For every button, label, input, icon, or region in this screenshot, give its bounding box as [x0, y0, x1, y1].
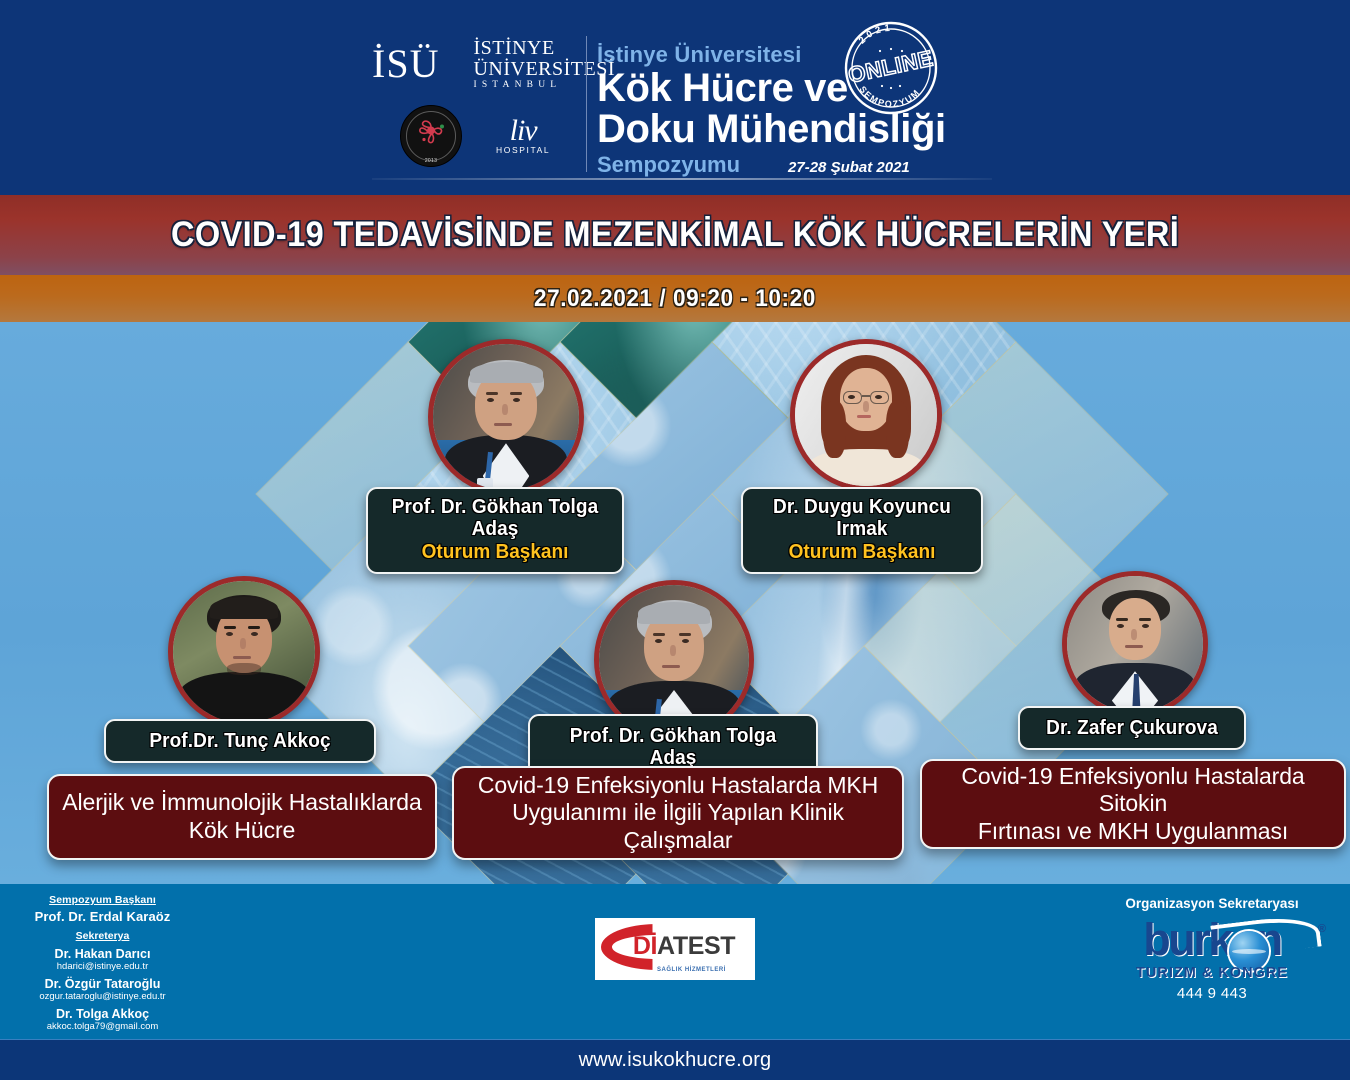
portrait-tunc-akkoc: [173, 581, 315, 723]
liv-hospital-logo: liv HOSPITAL: [496, 117, 550, 155]
speaker-topic-2-line1: Covid-19 Enfeksiyonlu Hastalarda MKH: [467, 772, 889, 800]
secretariat-name-3: Dr. Tolga Akkoç: [0, 1007, 205, 1021]
website-bar: www.isukokhucre.org: [0, 1039, 1350, 1080]
speaker-topic-3-line2: Fırtınası ve MKH Uygulanması: [935, 818, 1331, 846]
chair-name-plate-2: Dr. Duygu Koyuncu Irmak Oturum Başkanı: [741, 487, 983, 574]
svg-text:2021: 2021: [857, 23, 894, 47]
speaker-topic-2: Covid-19 Enfeksiyonlu Hastalarda MKH Uyg…: [467, 772, 889, 855]
event-line4: Sempozyumu: [597, 152, 740, 178]
isu-abbr-text: İSÜ: [372, 44, 448, 84]
symposium-chair-label: Sempozyum Başkanı: [0, 894, 205, 906]
footer: Sempozyum Başkanı Prof. Dr. Erdal Karaöz…: [0, 884, 1350, 1039]
session-title: COVID-19 TEDAVİSİNDE MEZENKİMAL KÖK HÜCR…: [171, 215, 1179, 255]
session-datetime: 27.02.2021 / 09:20 - 10:20: [534, 285, 816, 313]
chair-role-2: Oturum Başkanı: [764, 541, 960, 565]
diatest-tagline: SAĞLIK HİZMETLERİ: [657, 967, 726, 973]
website-url[interactable]: www.isukokhucre.org: [579, 1049, 772, 1072]
speaker-topic-plate-2: Covid-19 Enfeksiyonlu Hastalarda MKH Uyg…: [452, 766, 904, 860]
chair-photo-1: [428, 339, 584, 495]
event-date: 27-28 Şubat 2021: [788, 159, 910, 178]
speaker-name-plate-3: Dr. Zafer Çukurova: [1018, 706, 1246, 750]
event-line3: Doku Mühendisliği: [597, 109, 1017, 150]
header-bottom-rule: [372, 178, 992, 180]
liv-logo-sub: HOSPITAL: [496, 145, 550, 155]
event-line2: Kök Hücre ve: [597, 68, 1017, 109]
speaker-name-1: Prof.Dr. Tunç Akkoç: [128, 730, 352, 752]
session-title-banner: COVID-19 TEDAVİSİNDE MEZENKİMAL KÖK HÜCR…: [0, 195, 1350, 275]
speaker-topic-3-line1: Covid-19 Enfeksiyonlu Hastalarda Sitokin: [935, 763, 1331, 818]
speaker-name-plate-1: Prof.Dr. Tunç Akkoç: [104, 719, 376, 763]
chair-name-1: Prof. Dr. Gökhan Tolga Adaş: [390, 496, 601, 541]
header-vertical-divider: [586, 36, 587, 172]
diatest-wordmark: DİATEST: [633, 932, 735, 961]
speaker-photo-1: [168, 576, 320, 728]
liv-logo-word: liv: [496, 117, 550, 144]
isu-name-line2: ÜNİVERSİTESİ: [473, 59, 615, 80]
main-content: Prof. Dr. Gökhan Tolga Adaş Oturum Başka…: [0, 322, 1350, 884]
chair-photo-2: [790, 339, 942, 491]
header: İSÜ İSTİNYE ÜNİVERSİTESİ ISTANBUL: [0, 0, 1350, 195]
speaker-name-2: Prof. Dr. Gökhan Tolga Adaş: [552, 725, 793, 770]
institution-logos: İSÜ İSTİNYE ÜNİVERSİTESİ ISTANBUL: [372, 38, 577, 170]
speaker-topic-1-line2: Kök Hücre: [62, 817, 421, 845]
speaker-topic-2-line2: Uygulanımı ile İlgili Yapılan Klinik Çal…: [467, 799, 889, 854]
seal-year-text: 2013: [401, 158, 461, 164]
isu-city: ISTANBUL: [473, 81, 615, 91]
speaker-topic-plate-3: Covid-19 Enfeksiyonlu Hastalarda Sitokin…: [920, 759, 1346, 849]
secretariat-email-2[interactable]: ozgur.tataroglu@istinye.edu.tr: [0, 991, 205, 1002]
speaker-name-3: Dr. Zafer Çukurova: [1041, 717, 1223, 739]
chair-name-2: Dr. Duygu Koyuncu Irmak: [764, 496, 960, 541]
chair-role-1: Oturum Başkanı: [390, 541, 601, 565]
burkon-registered-mark: ®: [1318, 923, 1326, 935]
isu-logo: İSÜ İSTİNYE ÜNİVERSİTESİ ISTANBUL: [372, 38, 577, 91]
stem-cell-association-seal-icon: 2013: [400, 105, 462, 167]
chair-name-plate-1: Prof. Dr. Gökhan Tolga Adaş Oturum Başka…: [366, 487, 624, 574]
portrait-gokhan-tolga-adas: [433, 344, 579, 490]
org-phone[interactable]: 444 9 443: [1092, 985, 1332, 1002]
diatest-word-dark: ATEST: [657, 932, 735, 960]
burkon-logo: burkon ® TURIZM & KONGRE: [1092, 917, 1332, 979]
online-symposium-stamp-icon: 2021 SEMPOZYUM ONLINE: [840, 18, 942, 118]
speaker-topic-1-line1: Alerjik ve İmmunolojik Hastalıklarda: [62, 789, 421, 817]
seal-flower-icon: [412, 114, 450, 155]
isu-name-text: İSTİNYE ÜNİVERSİTESİ ISTANBUL: [466, 38, 615, 91]
event-line1: İstinye Üniversitesi: [597, 42, 1017, 68]
isu-name-line1: İSTİNYE: [473, 38, 615, 59]
organization-secretariat: Organizasyon Sekretaryası burkon ® TURIZ…: [1092, 896, 1332, 1002]
speaker-topic-1: Alerjik ve İmmunolojik Hastalıklarda Kök…: [62, 789, 421, 844]
partner-logos: 2013 liv HOSPITAL: [372, 105, 577, 167]
burkon-tagline: TURIZM & KONGRE: [1092, 965, 1332, 981]
session-datetime-banner: 27.02.2021 / 09:20 - 10:20: [0, 275, 1350, 322]
event-subtitle-row: Sempozyumu 27-28 Şubat 2021: [597, 152, 1017, 178]
speaker-topic-3: Covid-19 Enfeksiyonlu Hastalarda Sitokin…: [935, 763, 1331, 846]
org-secretariat-label: Organizasyon Sekretaryası: [1092, 896, 1332, 911]
poster-root: İSÜ İSTİNYE ÜNİVERSİTESİ ISTANBUL: [0, 0, 1350, 1080]
speaker-photo-3: [1062, 571, 1208, 717]
portrait-gokhan-tolga-adas-2: [599, 585, 749, 735]
speaker-topic-plate-1: Alerjik ve İmmunolojik Hastalıklarda Kök…: [47, 774, 437, 860]
portrait-duygu-koyuncu-irmak: [795, 344, 937, 486]
portrait-zafer-cukurova: [1067, 576, 1203, 712]
event-title-block: İstinye Üniversitesi Kök Hücre ve Doku M…: [597, 42, 1017, 178]
diatest-word-red: Dİ: [633, 932, 657, 960]
svg-text:ONLINE: ONLINE: [846, 45, 935, 87]
diatest-logo: DİATEST SAĞLIK HİZMETLERİ: [595, 918, 755, 980]
secretariat-email-3[interactable]: akkoc.tolga79@gmail.com: [0, 1021, 205, 1032]
